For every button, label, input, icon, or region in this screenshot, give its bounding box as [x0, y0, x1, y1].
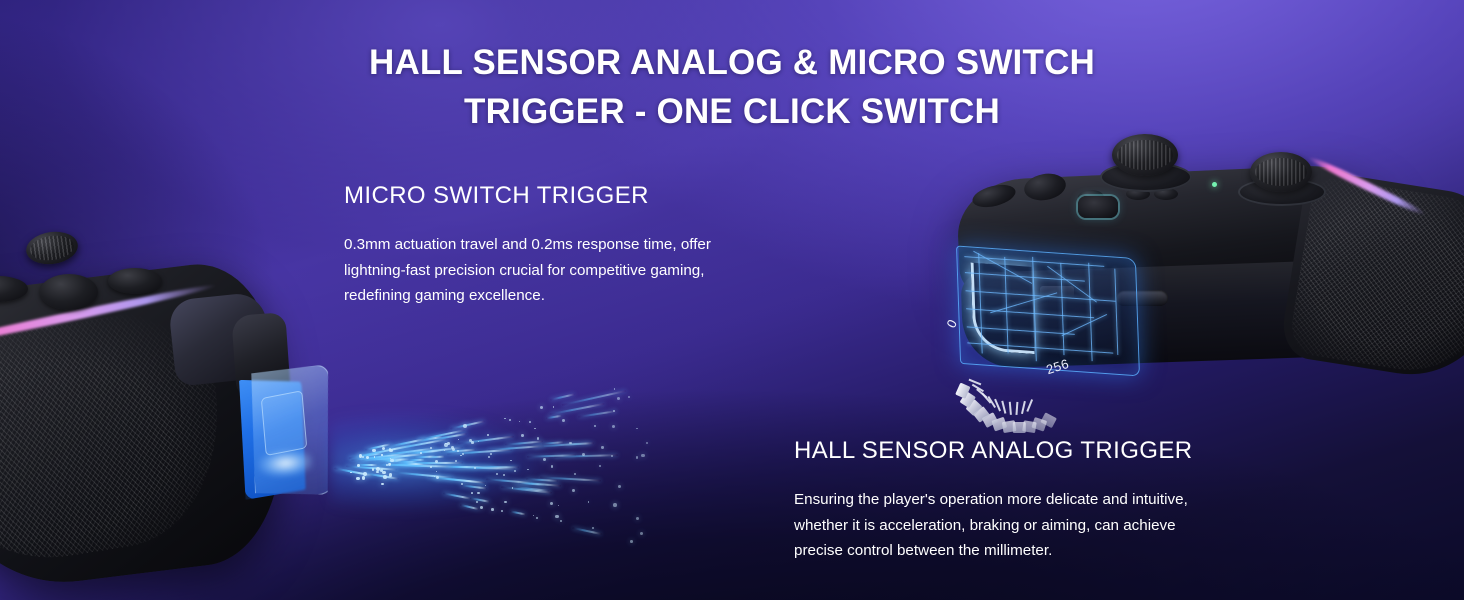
particle-dot [537, 437, 540, 440]
particle-streak [377, 447, 436, 457]
particle-dot [641, 454, 645, 458]
particle-dot [553, 406, 555, 408]
feature-body-line: Ensuring the player's operation more del… [794, 487, 1193, 513]
particle-dot [527, 469, 529, 471]
particle-dot [381, 483, 384, 486]
particle-dot [612, 425, 615, 428]
headline-line-1: HALL SENSOR ANALOG & MICRO SWITCH [369, 43, 1095, 82]
particle-dot [362, 456, 364, 458]
dpad [1078, 196, 1118, 218]
particle-streak [414, 456, 436, 459]
particle-streak [554, 454, 618, 458]
particle-dot [380, 469, 383, 472]
feature-body-hall-sensor: Ensuring the player's operation more del… [794, 487, 1193, 564]
particle-streak [546, 415, 562, 420]
particle-dot [430, 447, 432, 449]
particle-dot [389, 463, 391, 465]
particle-dot [383, 475, 387, 479]
particle-dot [514, 470, 516, 472]
particle-streak [419, 429, 465, 440]
particle-streak [514, 486, 549, 491]
particle-glow [330, 396, 650, 528]
feature-body-line: 0.3mm actuation travel and 0.2ms respons… [344, 232, 711, 258]
particle-streak [358, 457, 406, 462]
particle-dot [435, 460, 438, 463]
particle-dot [628, 396, 630, 398]
particle-dot [480, 506, 483, 509]
particle-dot [390, 458, 391, 459]
particle-dot [512, 487, 513, 488]
particle-streak [430, 433, 466, 441]
particle-dot [510, 460, 512, 462]
particle-dot [540, 406, 543, 409]
particle-dot [366, 456, 369, 459]
page-title: HALL SENSOR ANALOG & MICRO SWITCH TRIGGE… [0, 38, 1464, 136]
particle-dot [463, 424, 467, 428]
particle-streak [447, 449, 512, 455]
particle-dot [457, 450, 459, 452]
particle-dot [594, 425, 595, 426]
particle-dot [504, 501, 506, 503]
particle-dot [452, 448, 455, 451]
particle-streak [542, 441, 564, 445]
particle-streak [385, 438, 449, 452]
particle-dot [618, 485, 621, 488]
controller-left-image [0, 238, 360, 600]
particle-streak [365, 443, 391, 451]
particle-streak [540, 477, 601, 482]
particle-streak [505, 440, 543, 445]
particle-streak [376, 458, 411, 462]
particle-dot [533, 515, 534, 516]
particle-streak [441, 449, 476, 454]
particle-streak [357, 452, 383, 457]
particle-dot [455, 460, 458, 463]
particle-dot [444, 443, 448, 447]
particle-streak [395, 463, 424, 465]
feature-body-line: lightning-fast precision crucial for com… [344, 258, 711, 284]
feature-body-micro-switch: 0.3mm actuation travel and 0.2ms respons… [344, 232, 711, 309]
particle-dot [574, 473, 576, 475]
particle-streak [461, 485, 487, 490]
particle-dot [382, 447, 385, 450]
particle-streak [408, 459, 425, 462]
particle-streak [362, 453, 425, 461]
particle-dot [381, 454, 382, 455]
particle-streak [446, 466, 475, 468]
particle-dot [560, 520, 562, 522]
particle-dot [374, 456, 376, 458]
particle-dot [501, 510, 503, 512]
particle-dot [462, 453, 464, 455]
particle-streak [460, 504, 479, 510]
particle-streak [550, 393, 575, 401]
particle-streak [443, 492, 471, 499]
feature-heading-micro-switch: MICRO SWITCH TRIGGER [344, 182, 711, 210]
particle-dot [478, 441, 480, 443]
particle-dot [519, 421, 520, 422]
particle-dot [534, 428, 536, 430]
particle-streak [417, 435, 443, 442]
particle-dot [536, 517, 538, 519]
particle-streak [510, 511, 526, 516]
particle-streak [387, 438, 425, 448]
particle-streak [400, 446, 463, 455]
particle-streak [454, 467, 515, 470]
particle-dot [555, 515, 558, 518]
particle-streak [502, 486, 553, 494]
particle-dot [636, 517, 639, 520]
trigger-module-glow [258, 448, 314, 479]
particle-streak [474, 466, 519, 469]
particle-dot [588, 501, 590, 503]
particle-dot [476, 501, 478, 503]
particle-dot [389, 473, 392, 476]
particle-dot [491, 508, 494, 511]
particle-streak [561, 390, 625, 406]
particle-dot [504, 418, 505, 419]
particle-streak [426, 456, 445, 459]
particle-dot [390, 459, 394, 463]
particle-dot [490, 453, 492, 455]
particle-dot [611, 455, 613, 457]
particle-dot [388, 463, 391, 466]
particle-streak [428, 476, 486, 484]
particle-dot [363, 472, 367, 476]
particle-dot [582, 453, 585, 456]
particle-streak [486, 479, 531, 485]
particle-dot [389, 448, 391, 450]
trigger-module-internal-switch [261, 390, 308, 456]
particle-dot [617, 397, 620, 400]
feature-heading-hall-sensor: HALL SENSOR ANALOG TRIGGER [794, 437, 1193, 465]
particle-dot [389, 449, 393, 453]
particle-dot [372, 468, 375, 471]
thumbstick-right-2 [1250, 152, 1312, 192]
particle-dot [474, 467, 476, 469]
particle-dot [630, 540, 633, 543]
particle-dot [485, 485, 487, 487]
particle-streak [397, 461, 418, 463]
particle-dot [496, 473, 498, 475]
particle-dot [471, 492, 473, 494]
controller-right-grip-texture [1287, 176, 1464, 382]
particle-dot [444, 450, 445, 451]
particle-dot [572, 489, 575, 492]
particle-dot [529, 421, 531, 423]
particle-dot [636, 428, 638, 430]
particle-dot [447, 442, 450, 445]
particle-streak [392, 471, 453, 479]
particle-dot [551, 465, 554, 468]
controller-left-button-3 [108, 268, 162, 294]
particle-dot [458, 439, 459, 440]
particle-dot [471, 441, 474, 444]
particle-dot [372, 449, 375, 452]
particle-streak [402, 462, 463, 464]
particle-dot [430, 466, 432, 468]
particle-streak [450, 420, 484, 429]
particle-dot [376, 467, 380, 471]
feature-body-line: precise control between the millimeter. [794, 538, 1193, 564]
particle-dot [436, 471, 437, 472]
particle-dot [477, 492, 479, 494]
product-feature-banner: 0 256 HALL SENSOR ANALOG & MICRO SWITCH … [0, 0, 1464, 600]
particle-streak [488, 445, 544, 451]
particle-dot [386, 464, 388, 466]
particle-streak [364, 473, 399, 480]
particle-dot [550, 502, 553, 505]
particle-dot [503, 474, 505, 476]
controller-left-button-2 [40, 274, 98, 310]
thumbstick-left-2 [24, 229, 80, 268]
particle-dot [521, 434, 524, 437]
particle-dot [362, 476, 366, 480]
particle-dot [601, 446, 603, 448]
feature-block-hall-sensor: HALL SENSOR ANALOG TRIGGER Ensuring the … [794, 437, 1193, 564]
feature-block-micro-switch: MICRO SWITCH TRIGGER 0.3mm actuation tra… [344, 182, 711, 309]
particle-dot [613, 410, 614, 411]
micro-switch-trigger-module [234, 364, 337, 504]
particle-streak [549, 402, 605, 415]
particle-dot [569, 442, 572, 445]
particle-dot [599, 465, 601, 467]
particle-dot [420, 452, 422, 454]
particle-streak [433, 465, 493, 468]
particle-streak [409, 449, 442, 454]
particle-streak [527, 454, 576, 457]
particle-dot [592, 527, 594, 529]
particle-dot [434, 476, 435, 477]
particle-streak [384, 460, 402, 462]
particle-dot [488, 456, 490, 458]
particle-dot [445, 443, 446, 444]
feature-body-line: whether it is acceleration, braking or a… [794, 513, 1193, 539]
particle-dot [487, 434, 488, 435]
particle-streak [434, 477, 484, 484]
particle-dot [636, 456, 639, 459]
particle-streak [519, 482, 546, 486]
particle-dot [558, 505, 559, 506]
particle-dot [469, 439, 472, 442]
particle-dot [640, 532, 644, 536]
thumbstick-right-1 [1112, 134, 1178, 176]
particle-streak [392, 465, 453, 468]
headline-line-2: TRIGGER - ONE CLICK SWITCH [0, 87, 1464, 136]
particle-dot [614, 388, 616, 390]
particle-dot [461, 483, 463, 485]
particle-streak [470, 498, 490, 504]
particle-dot [613, 503, 617, 507]
particle-dot [451, 446, 454, 449]
particle-streak [526, 478, 558, 482]
particle-streak [533, 442, 590, 448]
particle-dot [460, 455, 462, 457]
particle-streak [373, 464, 435, 467]
particle-dot [562, 419, 565, 422]
particle-streak [578, 411, 617, 419]
particle-streak [513, 481, 561, 487]
particle-streak [572, 527, 602, 535]
particle-dot [509, 419, 511, 421]
particle-dot [646, 442, 648, 444]
particle-dot [543, 458, 546, 461]
particle-dot [376, 471, 379, 474]
particle-dot [382, 471, 386, 475]
particle-dot [436, 476, 440, 480]
particle-burst-effect [330, 378, 660, 548]
status-led-indicator [1212, 182, 1217, 187]
feature-body-line: redefining gaming excellence. [344, 283, 711, 309]
particle-streak [564, 442, 594, 446]
particle-streak [459, 435, 515, 444]
